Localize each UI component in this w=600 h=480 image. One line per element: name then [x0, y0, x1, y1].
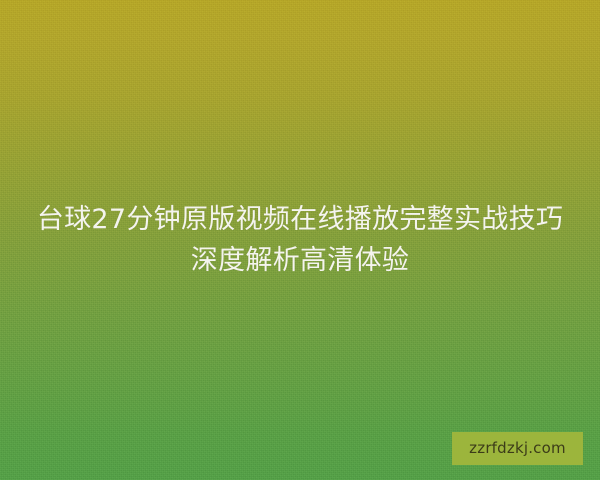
headline-text: 台球27分钟原版视频在线播放完整实战技巧深度解析高清体验 [0, 199, 600, 281]
poster-image: 台球27分钟原版视频在线播放完整实战技巧深度解析高清体验 zzrfdzkj.co… [0, 0, 600, 480]
watermark-badge: zzrfdzkj.com [452, 432, 583, 465]
watermark-label: zzrfdzkj.com [469, 441, 566, 456]
